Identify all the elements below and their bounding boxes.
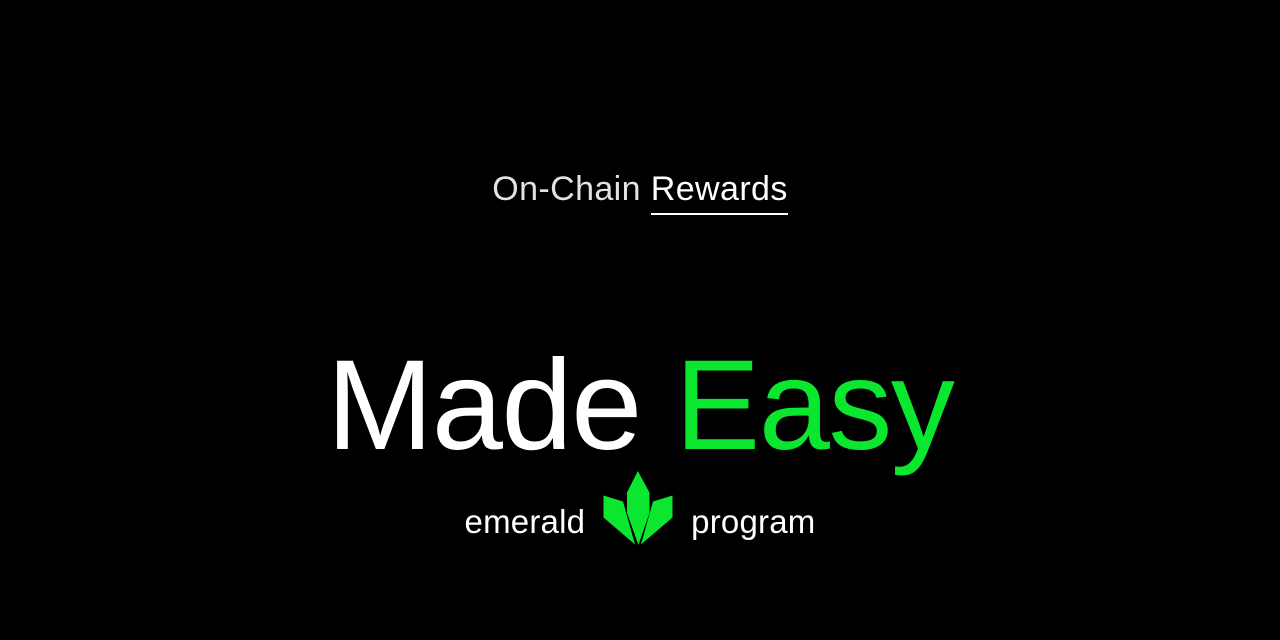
emerald-leaf-trident-logo-icon [599, 468, 677, 552]
brand-word-left: emerald [465, 505, 586, 552]
eyebrow-emphasis-text: Rewards [651, 170, 788, 215]
slide-canvas: On-Chain Rewards Made Easy emerald progr… [0, 0, 1280, 640]
headline-accent-word: Easy [675, 334, 954, 477]
eyebrow-plain-text: On-Chain [492, 170, 651, 208]
brand-word-right: program [691, 505, 815, 552]
page-title: Made Easy [0, 330, 1280, 482]
eyebrow-kicker: On-Chain Rewards [0, 166, 1280, 212]
headline-first-word: Made [327, 334, 675, 477]
brand-lockup: emerald program [0, 462, 1280, 552]
